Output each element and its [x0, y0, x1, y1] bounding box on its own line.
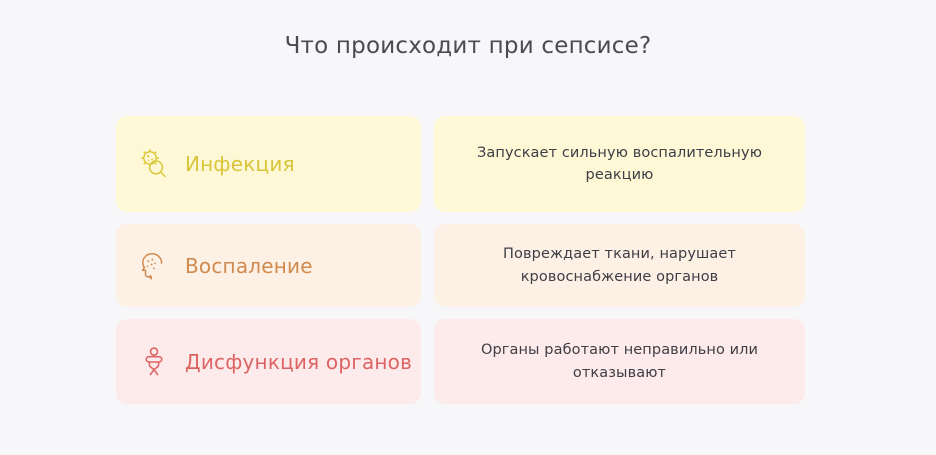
stage-label-card-organ-dysfunction: Дисфункция органов: [116, 319, 421, 404]
head-inflammation-icon: [137, 249, 171, 283]
stage-label-card-infection: Инфекция: [116, 116, 421, 212]
stage-label-text: Дисфункция органов: [185, 350, 412, 374]
stage-description-card-infection: Запускает сильную воспалительную реакцию: [434, 116, 805, 212]
process-row: Инфекция Запускает сильную воспалительну…: [116, 116, 805, 212]
stage-description-text: Запускает сильную воспалительную реакцию: [460, 142, 779, 186]
stage-label-text: Воспаление: [185, 254, 313, 278]
page-title: Что происходит при сепсисе?: [0, 33, 936, 59]
stage-description-card-organ-dysfunction: Органы работают неправильно или отказыва…: [434, 319, 805, 404]
stage-description-text: Органы работают неправильно или отказыва…: [460, 339, 779, 383]
stage-description-card-inflammation: Повреждает ткани, нарушает кровоснабжени…: [434, 224, 805, 307]
process-row: Воспаление Повреждает ткани, нарушает кр…: [116, 224, 805, 307]
stage-label-card-inflammation: Воспаление: [116, 224, 421, 307]
stage-description-text: Повреждает ткани, нарушает кровоснабжени…: [460, 243, 779, 287]
process-grid: Инфекция Запускает сильную воспалительну…: [116, 116, 805, 404]
bacteria-magnifier-icon: [137, 147, 171, 181]
stage-label-text: Инфекция: [185, 152, 295, 176]
process-row: Дисфункция органов Органы работают непра…: [116, 319, 805, 404]
human-body-organs-icon: [137, 345, 171, 379]
slide-root: Что происходит при сепсисе? Инфекция: [0, 0, 936, 455]
